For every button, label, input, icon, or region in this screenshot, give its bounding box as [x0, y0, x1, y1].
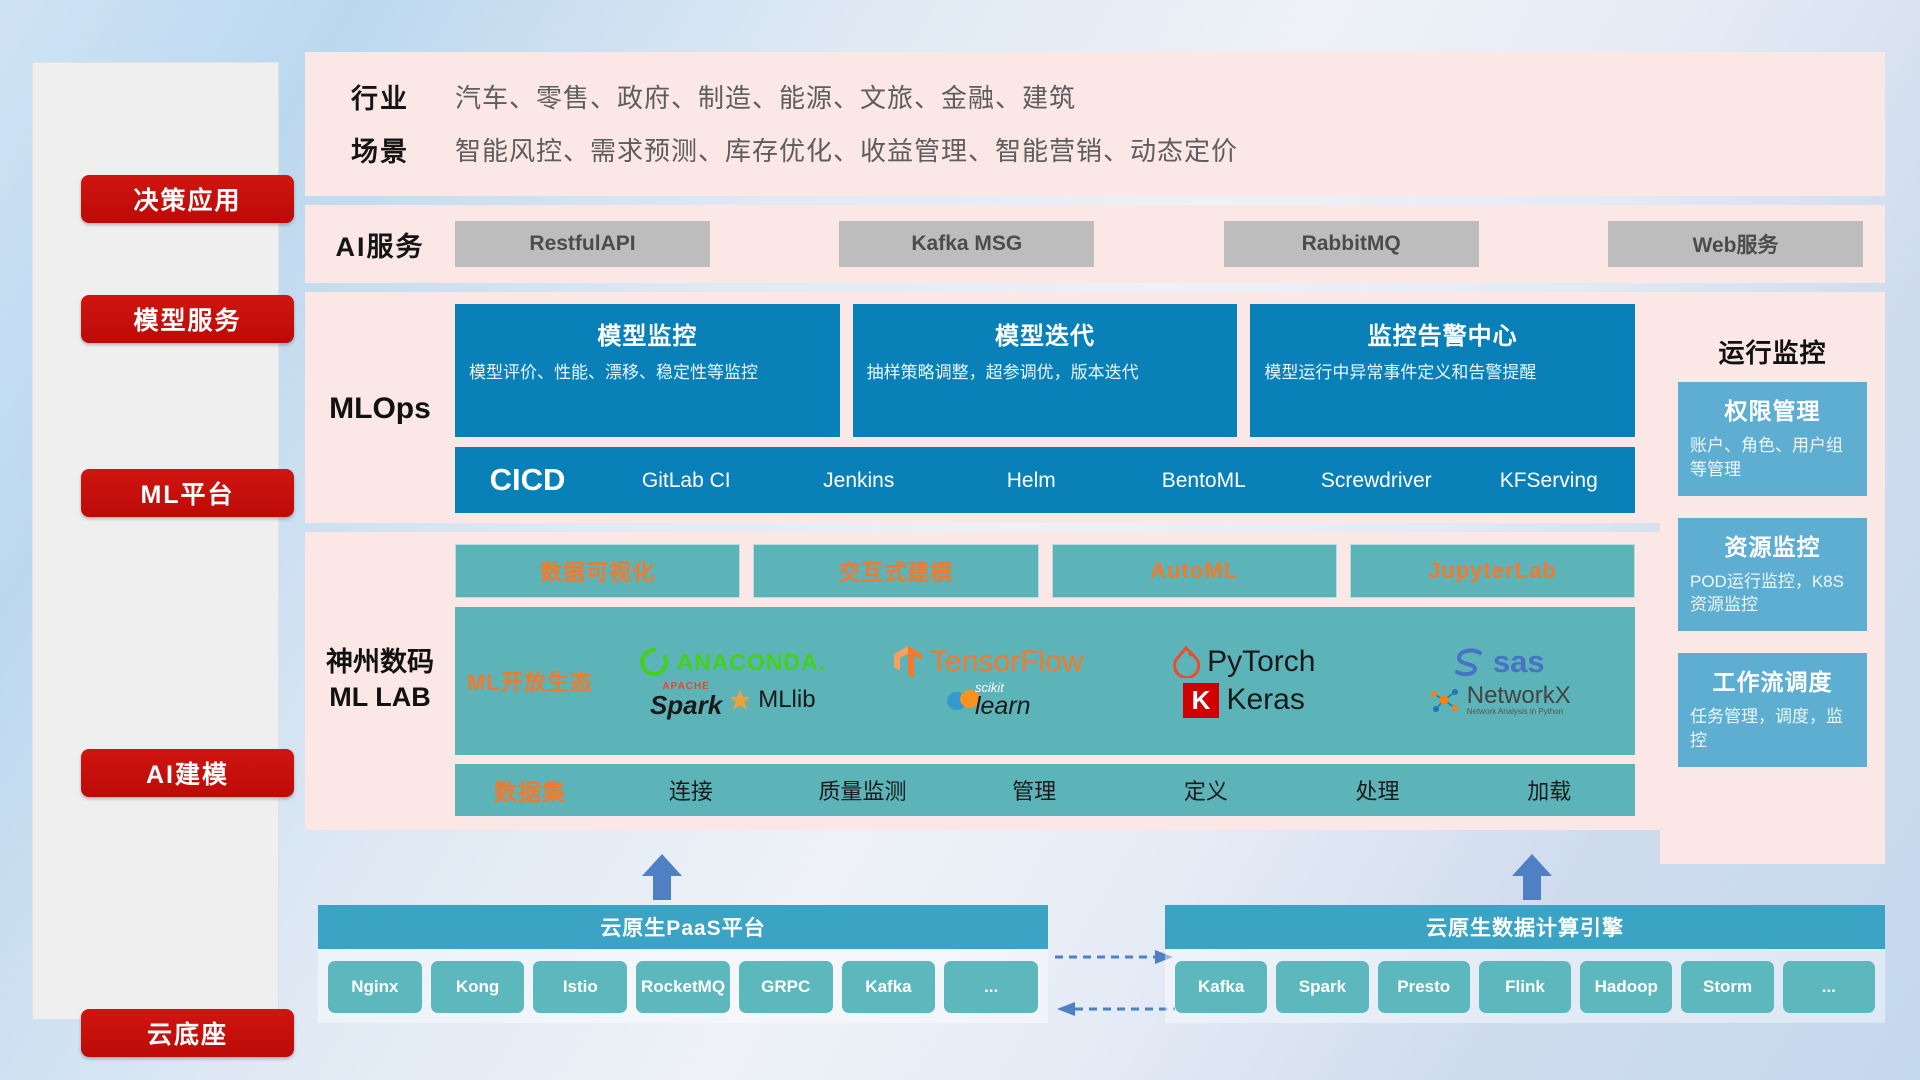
tensorflow-icon: [893, 645, 923, 679]
card-desc: POD运行监控，K8S资源监控: [1690, 570, 1855, 618]
mlops-content: 模型监控 模型评价、性能、漂移、稳定性等监控 模型迭代 抽样策略调整，超参调优，…: [455, 304, 1647, 513]
keras-label: Keras: [1226, 683, 1304, 717]
keras-mark-icon: K: [1183, 683, 1220, 718]
card-title: 监控告警中心: [1264, 316, 1621, 351]
compute-chip-more[interactable]: ...: [1783, 961, 1875, 1013]
paas-chip-nginx[interactable]: Nginx: [328, 961, 422, 1013]
monitor-card-resource[interactable]: 资源监控 POD运行监控，K8S资源监控: [1678, 518, 1867, 632]
compute-chip-hadoop[interactable]: Hadoop: [1580, 961, 1672, 1013]
cicd-label: CICD: [455, 462, 600, 498]
paas-chip-list: Nginx Kong Istio RocketMQ GRPC Kafka ...: [318, 949, 1048, 1023]
dataset-item-connect[interactable]: 连接: [605, 774, 777, 806]
paas-chip-rocketmq[interactable]: RocketMQ: [636, 961, 730, 1013]
ai-service-band: AI服务 RestfulAPI Kafka MSG RabbitMQ Web服务: [305, 205, 1885, 283]
industry-value: 汽车、零售、政府、制造、能源、文旅、金融、建筑: [455, 78, 1076, 115]
compute-chip-kafka[interactable]: Kafka: [1175, 961, 1267, 1013]
card-title: 模型迭代: [867, 316, 1224, 351]
sas-label: sas: [1493, 644, 1545, 680]
run-monitor-title: 运行监控: [1660, 319, 1885, 382]
compute-up-arrow-icon: [1508, 852, 1556, 900]
rail-item-model-service[interactable]: 模型服务: [81, 295, 294, 343]
cicd-item-helm[interactable]: Helm: [945, 470, 1118, 491]
cicd-item-gitlab-ci[interactable]: GitLab CI: [600, 470, 773, 491]
decision-application-band: 行业 汽车、零售、政府、制造、能源、文旅、金融、建筑 场景 智能风控、需求预测、…: [305, 52, 1885, 196]
dataset-items: 连接 质量监测 管理 定义 处理 加载: [605, 774, 1635, 806]
card-title: 模型监控: [469, 316, 826, 351]
monitor-card-workflow[interactable]: 工作流调度 任务管理，调度，监控: [1678, 653, 1867, 767]
tensorflow-label: TensorFlow: [930, 645, 1083, 679]
dataset-item-load[interactable]: 加载: [1463, 774, 1635, 806]
ml-lab-label-line2: ML LAB: [329, 682, 431, 712]
dataset-item-define[interactable]: 定义: [1120, 774, 1292, 806]
rail-item-decision[interactable]: 决策应用: [81, 175, 294, 223]
compute-to-paas-arrow-icon: [1055, 1000, 1175, 1018]
tool-jupyterlab[interactable]: JupyterLab: [1350, 544, 1635, 598]
rail-item-cloud-base[interactable]: 云底座: [81, 1009, 294, 1057]
ai-modeling-band: 神州数码 ML LAB 数据可视化 交互式建模 AutoML JupyterLa…: [305, 532, 1885, 830]
compute-chip-spark[interactable]: Spark: [1276, 961, 1368, 1013]
pytorch-icon: [1172, 646, 1200, 678]
card-desc: 任务管理，调度，监控: [1690, 705, 1855, 753]
pytorch-label: PyTorch: [1207, 645, 1315, 679]
cicd-row: CICD GitLab CI Jenkins Helm BentoML Scre…: [455, 447, 1635, 513]
card-desc: 模型运行中异常事件定义和告警提醒: [1264, 361, 1621, 384]
dataset-label: 数据集: [455, 773, 605, 807]
networkx-logo: NetworkX Network Analysis in Python: [1428, 683, 1571, 717]
dataset-item-quality-monitoring[interactable]: 质量监测: [777, 774, 949, 806]
compute-chip-flink[interactable]: Flink: [1479, 961, 1571, 1013]
mlops-card-model-iteration[interactable]: 模型迭代 抽样策略调整，超参调优，版本迭代: [853, 304, 1238, 437]
cicd-item-kfserving[interactable]: KFServing: [1463, 470, 1636, 491]
paas-platform-block: 云原生PaaS平台 Nginx Kong Istio RocketMQ GRPC…: [318, 905, 1048, 1023]
compute-chip-list: Kafka Spark Presto Flink Hadoop Storm ..…: [1165, 949, 1885, 1023]
paas-chip-grpc[interactable]: GRPC: [739, 961, 833, 1013]
spark-mllib-logo: APACHE Spark MLlib: [650, 682, 816, 718]
ml-lab-label-line1: 神州数码: [326, 647, 434, 677]
compute-engine-title: 云原生数据计算引擎: [1165, 905, 1885, 949]
ml-lab-label: 神州数码 ML LAB: [305, 544, 455, 816]
tool-interactive-modeling[interactable]: 交互式建模: [753, 544, 1038, 598]
sas-icon: [1454, 647, 1486, 677]
service-box-restfulapi[interactable]: RestfulAPI: [455, 221, 710, 267]
modeling-tool-row: 数据可视化 交互式建模 AutoML JupyterLab: [455, 544, 1635, 598]
ai-service-boxes: RestfulAPI Kafka MSG RabbitMQ Web服务: [455, 221, 1885, 267]
anaconda-label: ANACONDA.: [676, 649, 826, 676]
left-rail: 决策应用 模型服务 ML平台 AI建模 云底座: [32, 62, 279, 1020]
cicd-items: GitLab CI Jenkins Helm BentoML Screwdriv…: [600, 470, 1635, 491]
run-monitor-panel: 运行监控 权限管理 账户、角色、用户组等管理 资源监控 POD运行监控，K8S资…: [1660, 319, 1885, 864]
service-box-rabbitmq[interactable]: RabbitMQ: [1224, 221, 1479, 267]
cicd-item-screwdriver[interactable]: Screwdriver: [1290, 470, 1463, 491]
ml-ecosystem-row: ML开放生态 ANACONDA.: [455, 607, 1635, 755]
networkx-label: NetworkX: [1467, 683, 1571, 708]
learn-label: learn: [975, 694, 1031, 719]
card-desc: 账户、角色、用户组等管理: [1690, 434, 1855, 482]
card-desc: 抽样策略调整，超参调优，版本迭代: [867, 361, 1224, 384]
rail-item-ai-modeling[interactable]: AI建模: [81, 749, 294, 797]
spark-star-icon: [729, 689, 751, 711]
pytorch-logo: PyTorch: [1172, 645, 1315, 679]
compute-engine-block: 云原生数据计算引擎 Kafka Spark Presto Flink Hadoo…: [1165, 905, 1885, 1023]
sas-logo: sas: [1454, 644, 1545, 680]
paas-to-compute-arrow-icon: [1055, 948, 1175, 966]
paas-chip-istio[interactable]: Istio: [533, 961, 627, 1013]
tool-automl[interactable]: AutoML: [1052, 544, 1337, 598]
mlops-card-list: 模型监控 模型评价、性能、漂移、稳定性等监控 模型迭代 抽样策略调整，超参调优，…: [455, 304, 1635, 437]
mlops-band: MLOps 模型监控 模型评价、性能、漂移、稳定性等监控 模型迭代 抽样策略调整…: [305, 292, 1885, 523]
spark-label: Spark: [650, 692, 722, 718]
scikit-learn-logo: scikit learn: [946, 681, 1031, 719]
ml-ecosystem-label: ML开放生态: [455, 665, 605, 697]
paas-chip-kong[interactable]: Kong: [431, 961, 525, 1013]
networkx-icon: [1428, 686, 1460, 714]
service-box-kafka-msg[interactable]: Kafka MSG: [839, 221, 1094, 267]
rail-item-ml-platform[interactable]: ML平台: [81, 469, 294, 517]
dataset-row: 数据集 连接 质量监测 管理 定义 处理 加载: [455, 764, 1635, 816]
main-column: 行业 汽车、零售、政府、制造、能源、文旅、金融、建筑 场景 智能风控、需求预测、…: [305, 52, 1885, 830]
monitor-card-permission[interactable]: 权限管理 账户、角色、用户组等管理: [1678, 382, 1867, 496]
ai-modeling-content: 数据可视化 交互式建模 AutoML JupyterLab ML开放生态 ANA…: [455, 544, 1647, 816]
mllib-label: MLlib: [758, 686, 815, 714]
industry-row: 行业 汽车、零售、政府、制造、能源、文旅、金融、建筑: [305, 70, 1885, 123]
cicd-item-bentoml[interactable]: BentoML: [1118, 470, 1291, 491]
card-title: 资源监控: [1690, 528, 1855, 562]
mlops-label: MLOps: [305, 304, 455, 513]
ml-ecosystem-logos: ANACONDA. TensorFlow: [605, 643, 1635, 719]
industry-label: 行业: [305, 77, 455, 116]
service-box-web[interactable]: Web服务: [1608, 221, 1863, 267]
keras-logo: K Keras: [1183, 683, 1305, 718]
card-title: 权限管理: [1690, 392, 1855, 426]
compute-chip-storm[interactable]: Storm: [1681, 961, 1773, 1013]
paas-chip-kafka[interactable]: Kafka: [842, 961, 936, 1013]
dataset-item-manage[interactable]: 管理: [948, 774, 1120, 806]
dataset-item-process[interactable]: 处理: [1292, 774, 1464, 806]
networkx-sub-label: Network Analysis in Python: [1467, 708, 1571, 716]
anaconda-logo: ANACONDA.: [639, 647, 826, 677]
compute-chip-presto[interactable]: Presto: [1378, 961, 1470, 1013]
scenario-value: 智能风控、需求预测、库存优化、收益管理、智能营销、动态定价: [455, 131, 1238, 168]
paas-up-arrow-icon: [638, 852, 686, 900]
tensorflow-logo: TensorFlow: [893, 645, 1083, 679]
tool-data-visualization[interactable]: 数据可视化: [455, 544, 740, 598]
card-title: 工作流调度: [1690, 663, 1855, 697]
architecture-diagram: 决策应用 模型服务 ML平台 AI建模 云底座 行业 汽车、零售、政府、制造、能…: [0, 0, 1920, 1080]
scenario-row: 场景 智能风控、需求预测、库存优化、收益管理、智能营销、动态定价: [305, 123, 1885, 176]
cicd-item-jenkins[interactable]: Jenkins: [773, 470, 946, 491]
paas-platform-title: 云原生PaaS平台: [318, 905, 1048, 949]
paas-chip-more[interactable]: ...: [944, 961, 1038, 1013]
mlops-card-model-monitoring[interactable]: 模型监控 模型评价、性能、漂移、稳定性等监控: [455, 304, 840, 437]
anaconda-icon: [639, 647, 669, 677]
mlops-card-alert-center[interactable]: 监控告警中心 模型运行中异常事件定义和告警提醒: [1250, 304, 1635, 437]
card-desc: 模型评价、性能、漂移、稳定性等监控: [469, 361, 826, 384]
scenario-label: 场景: [305, 130, 455, 169]
ai-service-label: AI服务: [305, 225, 455, 264]
